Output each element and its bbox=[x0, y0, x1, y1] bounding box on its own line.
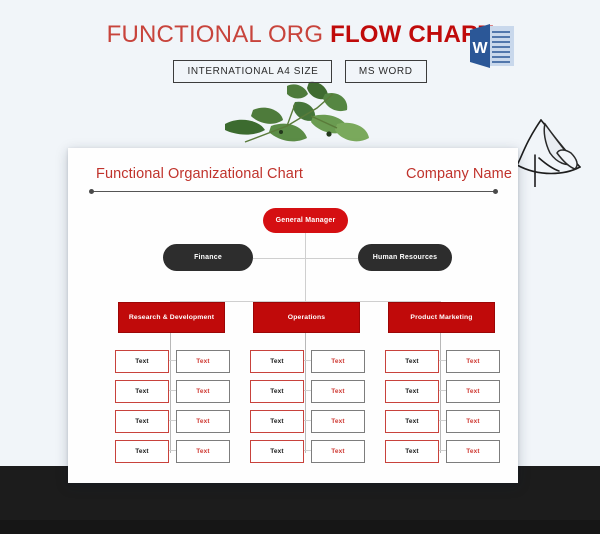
leaf-label: Text bbox=[270, 358, 283, 365]
header-rule bbox=[91, 191, 495, 192]
badge-a4-size[interactable]: INTERNATIONAL A4 SIZE bbox=[173, 60, 332, 83]
leaf-label: Text bbox=[331, 448, 344, 455]
leaf-box[interactable]: Text bbox=[446, 440, 500, 463]
chart-title: Functional Organizational Chart bbox=[96, 166, 303, 182]
leaf-label: Text bbox=[331, 358, 344, 365]
footer-band-lower bbox=[0, 520, 600, 534]
leaf-label: Text bbox=[466, 358, 479, 365]
leaf-label: Text bbox=[135, 418, 148, 425]
leaf-box[interactable]: Text bbox=[385, 380, 439, 403]
rule-dot-left bbox=[89, 189, 94, 194]
leaf-box[interactable]: Text bbox=[385, 410, 439, 433]
leaf-box[interactable]: Text bbox=[115, 440, 169, 463]
leaf-label: Text bbox=[135, 358, 148, 365]
node-product-marketing[interactable]: Product Marketing bbox=[388, 302, 495, 333]
node-label: Research & Development bbox=[129, 313, 214, 322]
title-part-light: FUNCTIONAL ORG bbox=[107, 21, 330, 48]
leaf-label: Text bbox=[405, 448, 418, 455]
leaf-label: Text bbox=[135, 448, 148, 455]
leaf-box[interactable]: Text bbox=[176, 410, 230, 433]
leaf-label: Text bbox=[405, 388, 418, 395]
leaf-box[interactable]: Text bbox=[250, 410, 304, 433]
plant-leaves-decoration bbox=[225, 80, 370, 152]
connector-hr bbox=[305, 258, 358, 259]
leaf-box[interactable]: Text bbox=[446, 410, 500, 433]
leaf-box[interactable]: Text bbox=[311, 440, 365, 463]
leaf-label: Text bbox=[466, 448, 479, 455]
leaf-box[interactable]: Text bbox=[115, 380, 169, 403]
leaf-label: Text bbox=[466, 418, 479, 425]
leaf-box[interactable]: Text bbox=[176, 350, 230, 373]
leaf-box[interactable]: Text bbox=[176, 440, 230, 463]
leaf-box[interactable]: Text bbox=[250, 380, 304, 403]
leaf-label: Text bbox=[196, 358, 209, 365]
leaf-label: Text bbox=[135, 388, 148, 395]
leaf-label: Text bbox=[270, 388, 283, 395]
leaf-label: Text bbox=[270, 418, 283, 425]
leaf-box[interactable]: Text bbox=[115, 410, 169, 433]
spine-dept-2 bbox=[305, 331, 306, 453]
badge-ms-word[interactable]: MS WORD bbox=[345, 60, 427, 83]
node-general-manager[interactable]: General Manager bbox=[263, 208, 348, 233]
node-human-resources[interactable]: Human Resources bbox=[358, 244, 452, 271]
leaf-label: Text bbox=[405, 358, 418, 365]
leaf-box[interactable]: Text bbox=[250, 440, 304, 463]
screenshot-root: FUNCTIONAL ORG FLOW CHART INTERNATIONAL … bbox=[0, 0, 600, 534]
node-label: Human Resources bbox=[373, 254, 437, 261]
node-label: General Manager bbox=[276, 217, 336, 224]
spine-dept-3 bbox=[440, 331, 441, 453]
leaf-label: Text bbox=[196, 388, 209, 395]
leaf-box[interactable]: Text bbox=[311, 380, 365, 403]
leaf-label: Text bbox=[270, 448, 283, 455]
leaf-label: Text bbox=[196, 418, 209, 425]
leaf-box[interactable]: Text bbox=[250, 350, 304, 373]
rule-dot-right bbox=[493, 189, 498, 194]
leaf-label: Text bbox=[331, 388, 344, 395]
svg-text:W: W bbox=[472, 40, 488, 57]
leaf-label: Text bbox=[196, 448, 209, 455]
leaf-box[interactable]: Text bbox=[176, 380, 230, 403]
leaf-box[interactable]: Text bbox=[446, 350, 500, 373]
document-page: Functional Organizational Chart Company … bbox=[68, 148, 518, 483]
connector-gm-trunk bbox=[305, 233, 306, 301]
node-label: Finance bbox=[194, 254, 222, 261]
leaf-box[interactable]: Text bbox=[446, 380, 500, 403]
leaf-box[interactable]: Text bbox=[311, 410, 365, 433]
connector-finance bbox=[253, 258, 305, 259]
node-research-and-development[interactable]: Research & Development bbox=[118, 302, 225, 333]
leaf-label: Text bbox=[331, 418, 344, 425]
leaf-label: Text bbox=[405, 418, 418, 425]
leaf-box[interactable]: Text bbox=[311, 350, 365, 373]
ms-word-icon[interactable]: W bbox=[468, 24, 516, 68]
node-finance[interactable]: Finance bbox=[163, 244, 253, 271]
leaf-box[interactable]: Text bbox=[385, 440, 439, 463]
leaf-box[interactable]: Text bbox=[385, 350, 439, 373]
leaf-label: Text bbox=[466, 388, 479, 395]
node-operations[interactable]: Operations bbox=[253, 302, 360, 333]
node-label: Product Marketing bbox=[410, 313, 472, 322]
company-name: Company Name bbox=[406, 166, 512, 182]
leaf-box[interactable]: Text bbox=[115, 350, 169, 373]
node-label: Operations bbox=[288, 313, 325, 322]
spine-dept-1 bbox=[170, 331, 171, 453]
